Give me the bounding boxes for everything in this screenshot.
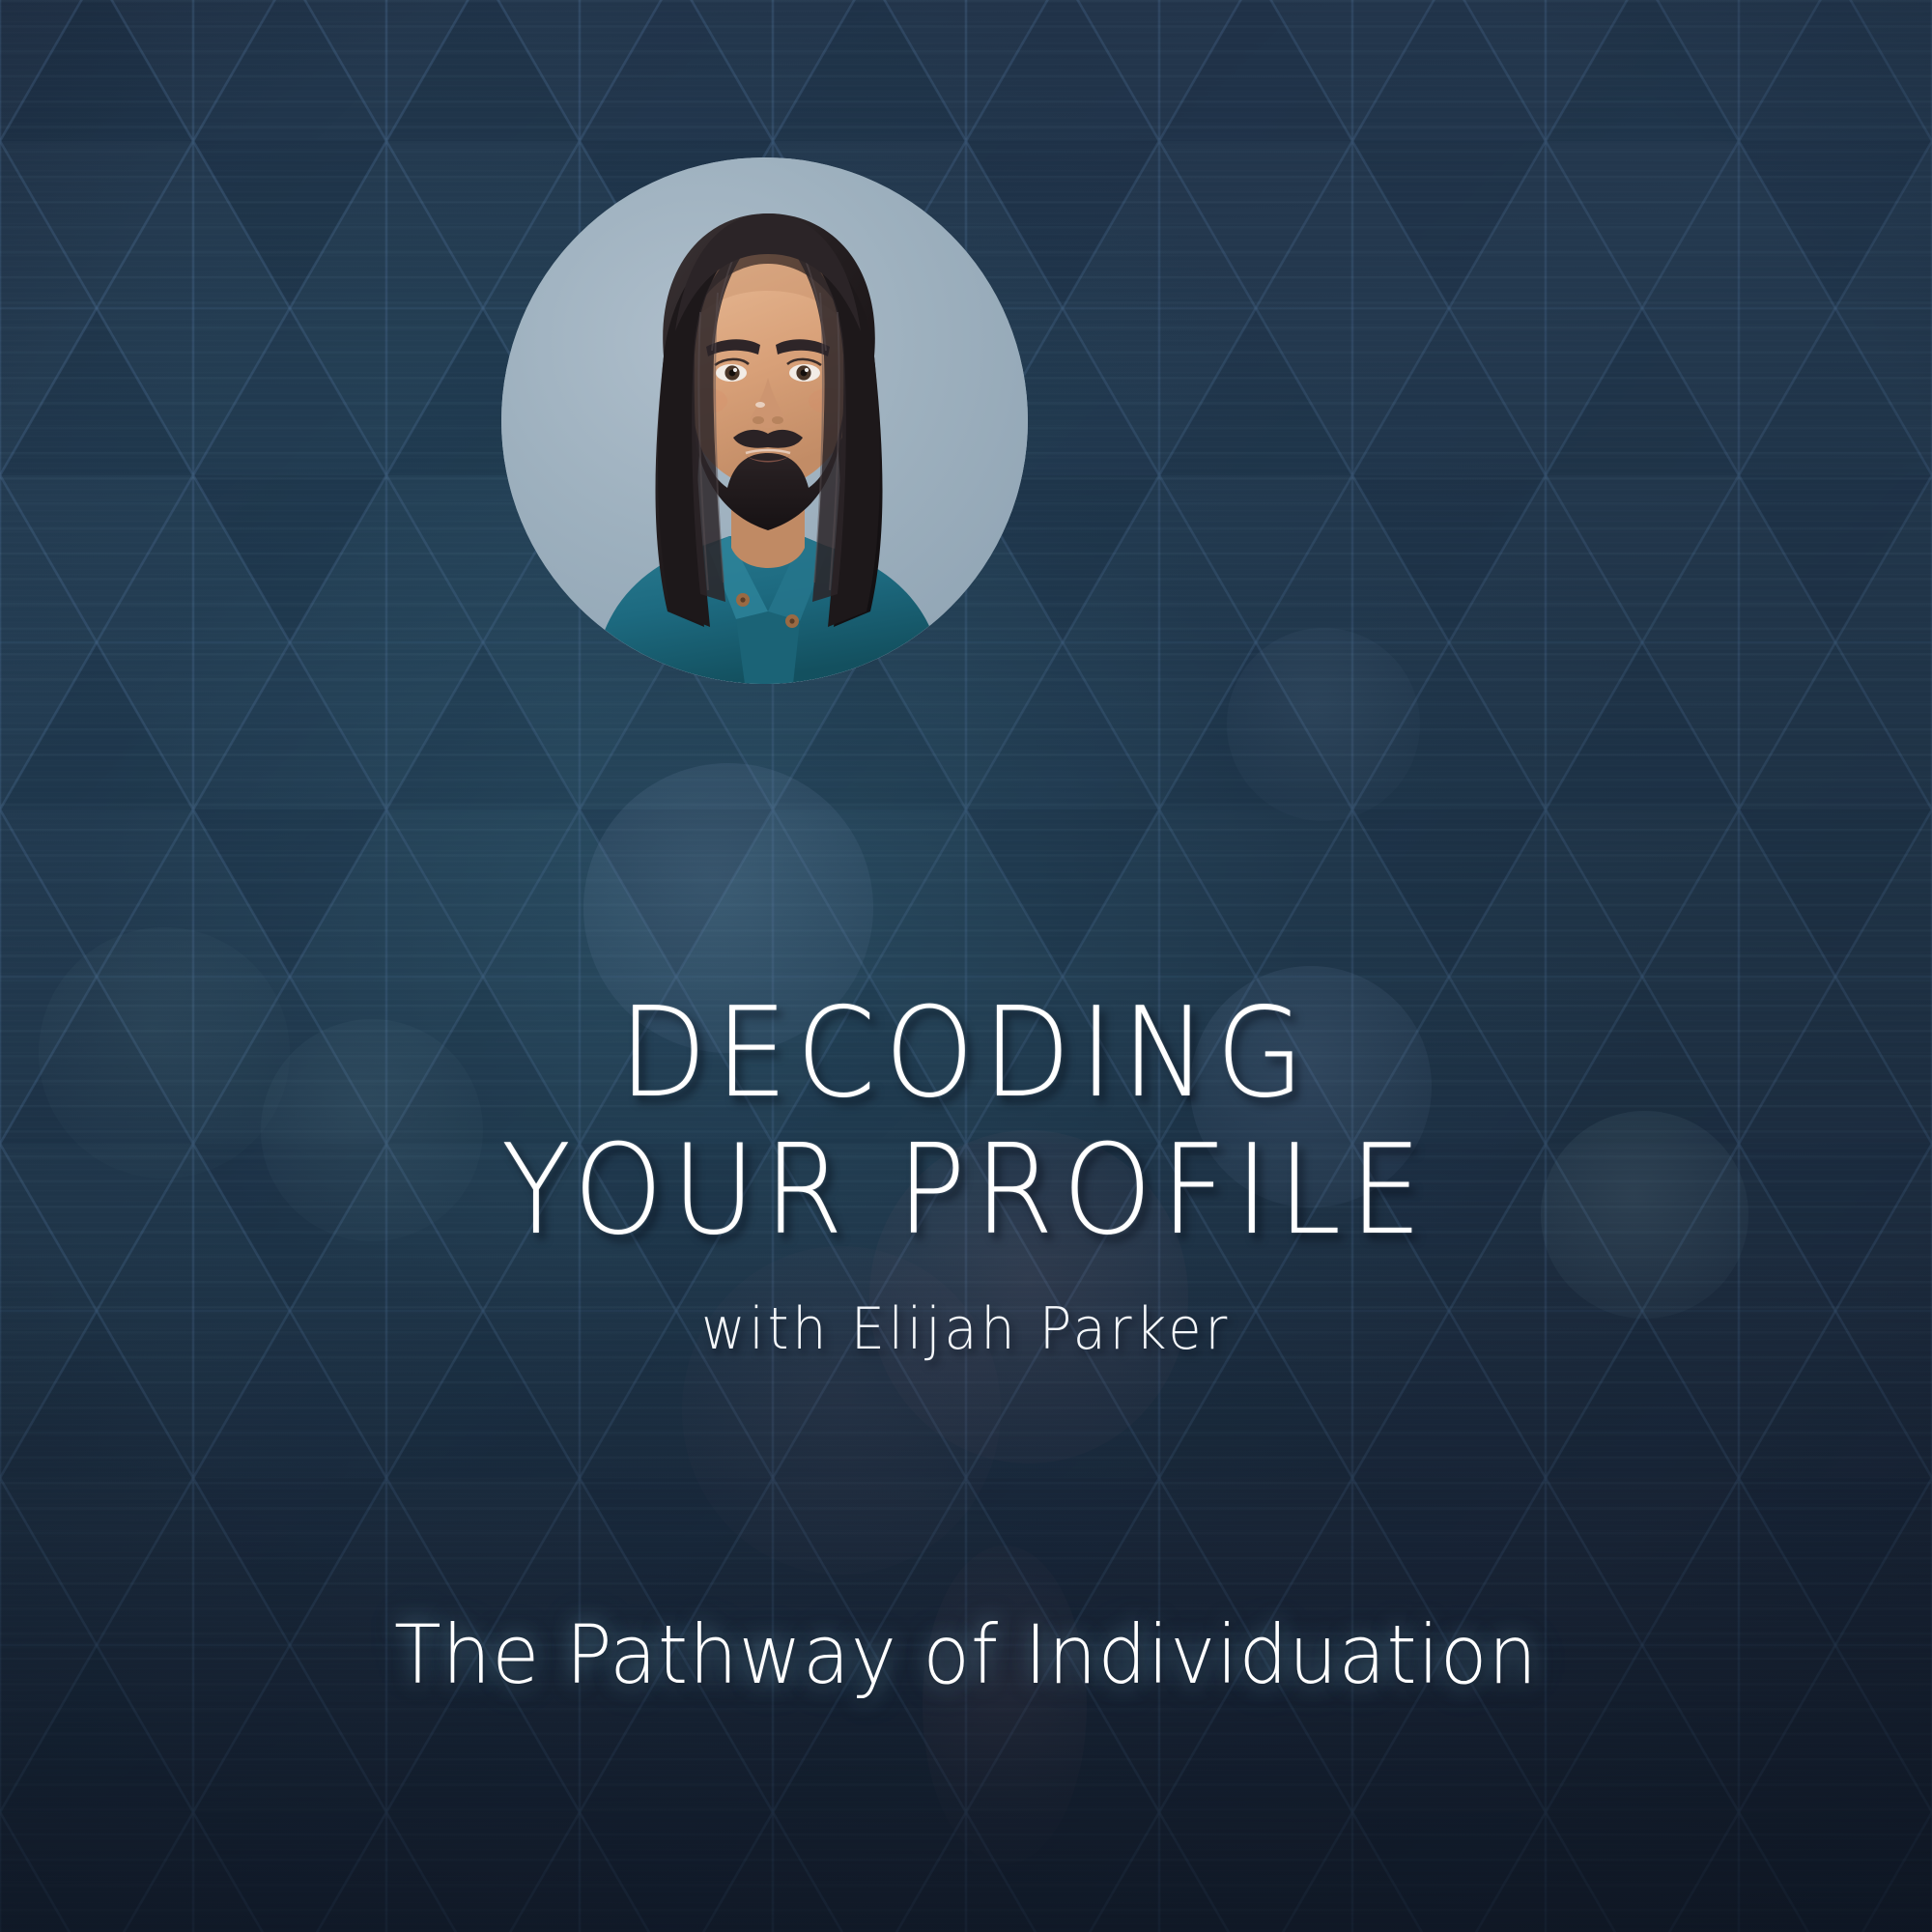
host-portrait-illustration [501,157,1028,684]
title-line-1: DECODING [77,985,1855,1122]
tagline: The Pathway of Individuation [48,1607,1884,1702]
title-line-2: YOUR PROFILE [77,1122,1855,1260]
title-block: DECODING YOUR PROFILE with Elijah Parker [0,985,1932,1362]
cover-art: DECODING YOUR PROFILE with Elijah Parker… [0,0,1932,1932]
host-byline: with Elijah Parker [68,1296,1864,1362]
tagline-block: The Pathway of Individuation [0,1607,1932,1702]
host-avatar [501,157,1028,684]
